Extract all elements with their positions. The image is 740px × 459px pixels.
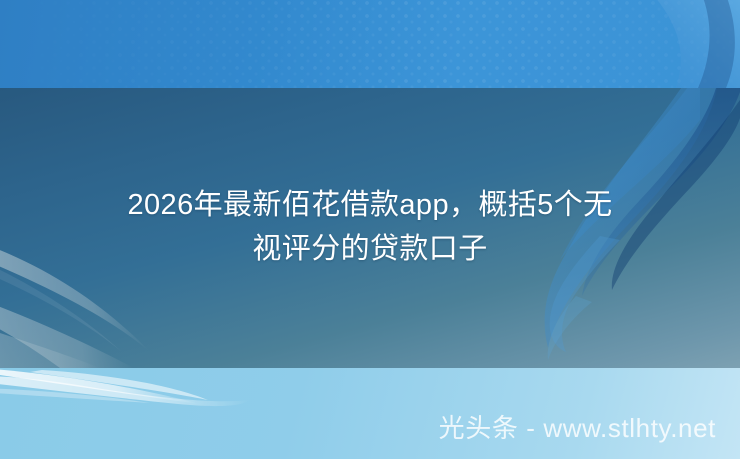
dot-grid-texture bbox=[0, 0, 740, 88]
top-blue-band bbox=[0, 0, 740, 88]
poster-canvas: 2026年最新佰花借款app，概括5个无 视评分的贷款口子 光头条 - www.… bbox=[0, 0, 740, 459]
watermark-text: 光头条 - www.stlhty.net bbox=[439, 408, 716, 445]
page-title: 2026年最新佰花借款app，概括5个无 视评分的贷款口子 bbox=[0, 183, 740, 271]
